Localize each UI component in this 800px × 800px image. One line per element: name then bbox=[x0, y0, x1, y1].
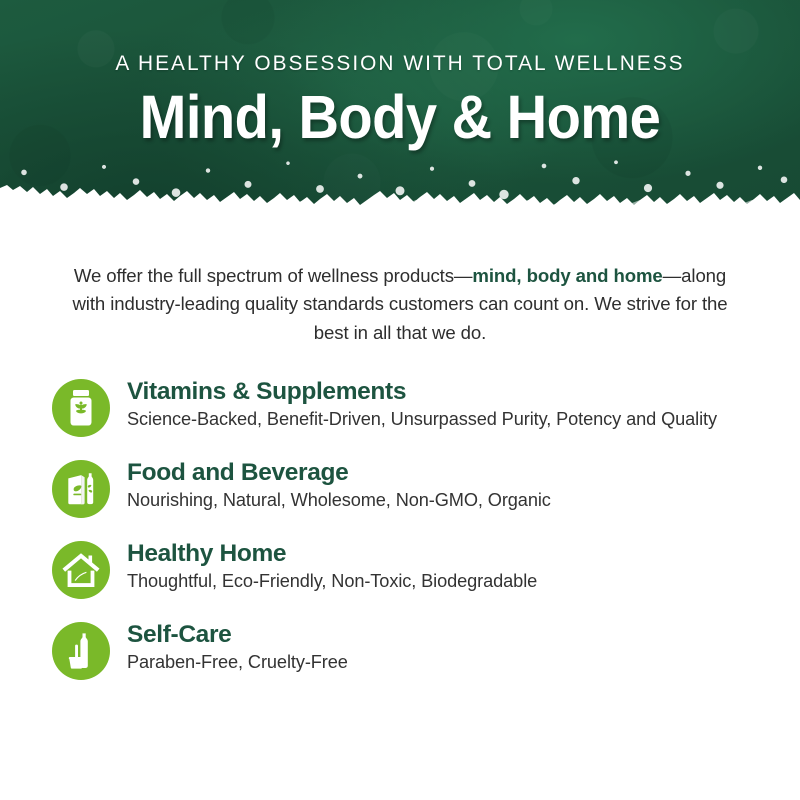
intro-text-part-1: We offer the full spectrum of wellness p… bbox=[74, 265, 473, 286]
house-with-leaf-icon bbox=[61, 552, 101, 588]
feature-description: Science-Backed, Benefit-Driven, Unsurpas… bbox=[127, 407, 717, 432]
feature-icon-badge bbox=[52, 541, 110, 599]
feature-title: Vitamins & Supplements bbox=[127, 378, 717, 405]
hero-kicker: A HEALTHY OBSESSION WITH TOTAL WELLNESS bbox=[12, 52, 788, 76]
feature-title: Self-Care bbox=[127, 621, 348, 648]
wellness-promo-page: A HEALTHY OBSESSION WITH TOTAL WELLNESS … bbox=[0, 0, 800, 800]
feature-list: Vitamins & Supplements Science-Backed, B… bbox=[0, 377, 800, 680]
feature-icon-badge bbox=[52, 379, 110, 437]
feature-title: Healthy Home bbox=[127, 540, 537, 567]
feature-icon-badge bbox=[52, 460, 110, 518]
list-item: Food and Beverage Nourishing, Natural, W… bbox=[52, 458, 800, 518]
lotion-bottle-and-soap-icon bbox=[65, 632, 97, 670]
page-title: Mind, Body & Home bbox=[32, 87, 768, 148]
list-item: Healthy Home Thoughtful, Eco-Friendly, N… bbox=[52, 539, 800, 599]
hero-banner: A HEALTHY OBSESSION WITH TOTAL WELLNESS … bbox=[0, 0, 800, 222]
list-item: Self-Care Paraben-Free, Cruelty-Free bbox=[52, 620, 800, 680]
feature-description: Nourishing, Natural, Wholesome, Non-GMO,… bbox=[127, 488, 551, 513]
supplement-bottle-icon bbox=[64, 389, 98, 427]
feature-description: Paraben-Free, Cruelty-Free bbox=[127, 650, 348, 675]
food-bag-and-bottle-icon bbox=[63, 471, 99, 507]
intro-highlight: mind, body and home bbox=[472, 265, 662, 286]
feature-title: Food and Beverage bbox=[127, 459, 551, 486]
feature-icon-badge bbox=[52, 622, 110, 680]
feature-description: Thoughtful, Eco-Friendly, Non-Toxic, Bio… bbox=[127, 569, 537, 594]
intro-paragraph: We offer the full spectrum of wellness p… bbox=[62, 262, 738, 347]
list-item: Vitamins & Supplements Science-Backed, B… bbox=[52, 377, 800, 437]
